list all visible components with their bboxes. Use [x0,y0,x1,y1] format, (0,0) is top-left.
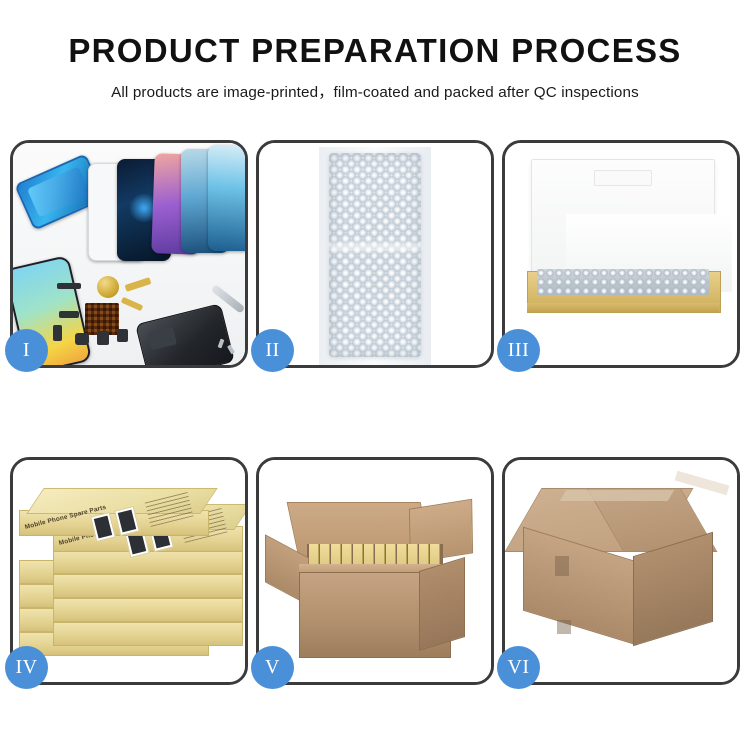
step-image-2 [259,143,491,365]
speaker-icon [75,333,89,345]
battery-connector-icon [117,329,128,342]
step-badge-4: IV [5,646,48,689]
earpiece-mesh-icon [57,283,81,289]
step-badge-6: VI [497,646,540,689]
step-badge-3: III [497,329,540,372]
step-card-open-carton: V [256,457,494,685]
kraft-box-layer [53,622,243,646]
step-card-stacked-boxes: Mobile Phone Spare Parts Mobile Phone Sp… [10,457,248,685]
step-badge-2: II [251,329,294,372]
flex-cable-icon [125,277,152,292]
step-image-3 [505,143,737,365]
camera-module-icon [97,331,109,345]
header: PRODUCT PREPARATION PROCESS All products… [0,0,750,102]
kraft-box-layer [53,598,243,622]
vibration-motor-icon [97,276,119,298]
step-card-open-mailer-box: III [502,140,740,368]
box-front-edge [527,303,719,312]
phone-back-housing-icon [135,303,235,365]
flex-cable-icon [121,297,144,311]
phones-and-parts-scene [13,143,245,365]
step-badge-5: V [251,646,294,689]
step-card-phones-and-parts: I [10,140,248,368]
step-card-sealed-carton: VI [502,457,740,685]
step-image-1 [13,143,245,365]
packing-tape-icon [560,490,674,501]
small-part-icon [53,325,62,341]
process-steps-grid: I II III [10,140,740,685]
infographic-page: PRODUCT PREPARATION PROCESS All products… [0,0,750,750]
lid-tab-icon [594,170,652,186]
step-image-4: Mobile Phone Spare Parts Mobile Phone Sp… [13,460,245,682]
connector-icon [59,311,79,318]
step-card-bubble-wrap: II [256,140,494,368]
kraft-box-stack: Mobile Phone Spare Parts Mobile Phone Sp… [17,482,245,678]
bubble-wrapped-contents-icon [537,269,709,295]
step-badge-1: I [5,329,48,372]
bubble-wrap-icon [329,153,421,357]
kraft-box-layer [53,574,243,598]
carton-seam [557,620,571,634]
box-lid-icon [531,159,715,277]
carton-seam [555,556,569,576]
step-image-6 [505,460,737,682]
page-title: PRODUCT PREPARATION PROCESS [0,34,750,69]
carton-side-panel [419,557,465,651]
phone-cyan-icon [208,145,245,251]
step-image-5 [259,460,491,682]
page-subtitle: All products are image-printed，film-coat… [0,80,750,102]
